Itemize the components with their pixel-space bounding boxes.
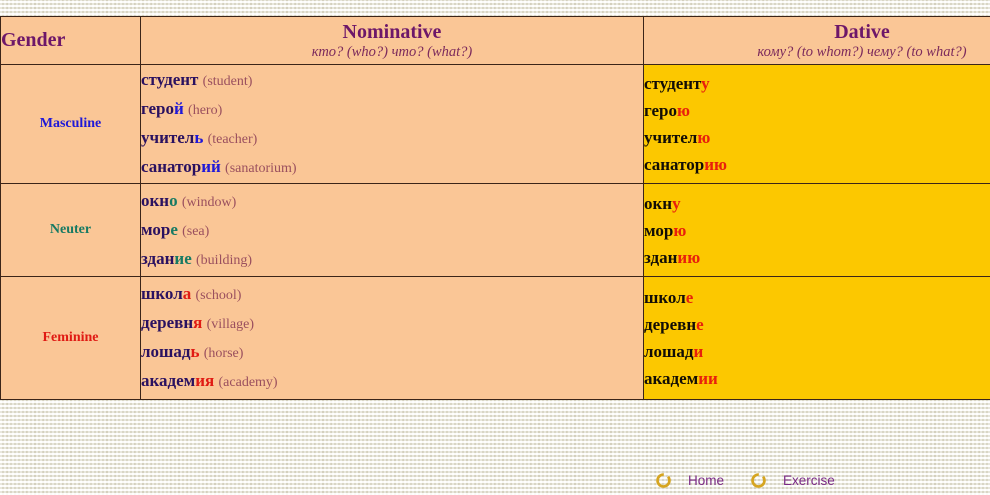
dative-cell-neuter: окну морю зданию bbox=[644, 184, 990, 277]
word-stem: санатор bbox=[644, 155, 704, 174]
header-cell-nominative: Nominative кто? (who?) что? (what?) bbox=[141, 17, 644, 65]
word-ending: у bbox=[672, 194, 681, 213]
word-gloss: (hero) bbox=[188, 103, 222, 118]
word-ending: ий bbox=[201, 157, 221, 176]
list-item: санаторий (sanatorium) bbox=[141, 153, 643, 182]
word-gloss: (academy) bbox=[219, 375, 278, 390]
list-item: школа (school) bbox=[141, 280, 643, 309]
list-item: море (sea) bbox=[141, 216, 643, 245]
list-item: студенту bbox=[644, 70, 990, 97]
gender-label-masculine: Masculine bbox=[40, 116, 101, 131]
nav-link-exercise[interactable]: Exercise bbox=[783, 473, 835, 488]
dative-cell-feminine: школе деревне лошади академии bbox=[644, 277, 990, 400]
gold-ring-icon bbox=[655, 472, 672, 489]
list-item: здание (building) bbox=[141, 245, 643, 274]
list-item: студент (student) bbox=[141, 66, 643, 95]
gender-cell-neuter: Neuter bbox=[1, 184, 141, 277]
list-item: деревне bbox=[644, 311, 990, 338]
list-item: герой (hero) bbox=[141, 95, 643, 124]
header-cell-gender: Gender bbox=[1, 17, 141, 65]
nav-link-home[interactable]: Home bbox=[688, 473, 724, 488]
word-stem: школ bbox=[141, 284, 183, 303]
list-item: окно (window) bbox=[141, 187, 643, 216]
word-ending: ию bbox=[704, 155, 727, 174]
nominative-cell-masculine: студент (student) герой (hero) учитель (… bbox=[141, 65, 644, 184]
word-stem: деревн bbox=[141, 313, 193, 332]
gold-ring-icon bbox=[750, 472, 767, 489]
gender-column-title: Gender bbox=[1, 29, 65, 51]
word-stem: здан bbox=[141, 249, 174, 268]
word-ending: ю bbox=[677, 101, 690, 120]
word-gloss: (sanatorium) bbox=[225, 161, 297, 176]
word-stem: студент bbox=[644, 74, 701, 93]
word-stem: окн bbox=[644, 194, 672, 213]
word-stem: лошад bbox=[644, 342, 694, 361]
word-stem: мор bbox=[644, 221, 673, 240]
word-gloss: (horse) bbox=[204, 346, 244, 361]
word-ending: ия bbox=[195, 371, 214, 390]
word-ending: й bbox=[174, 99, 184, 118]
list-item: учитель (teacher) bbox=[141, 124, 643, 153]
declension-table: Gender Nominative кто? (who?) что? (what… bbox=[0, 16, 990, 400]
header-cell-dative: Dative кому? (to whom?) чему? (to what?) bbox=[644, 17, 990, 65]
word-list-nominative-feminine: школа (school) деревня (village) лошадь … bbox=[141, 280, 643, 396]
word-ending: у bbox=[701, 74, 710, 93]
table-row-neuter: Neuter окно (window) море (sea) здан bbox=[1, 184, 990, 277]
list-item: санаторию bbox=[644, 151, 990, 178]
nominative-cell-feminine: школа (school) деревня (village) лошадь … bbox=[141, 277, 644, 400]
word-ending: ю bbox=[673, 221, 686, 240]
case-questions-nominative: кто? (who?) что? (what?) bbox=[141, 43, 643, 61]
list-item: учителю bbox=[644, 124, 990, 151]
bottom-nav: Home Exercise bbox=[655, 472, 861, 489]
word-ending: ь bbox=[194, 128, 203, 147]
word-ending: ь bbox=[191, 342, 200, 361]
case-title-dative: Dative bbox=[644, 21, 990, 43]
list-item: морю bbox=[644, 217, 990, 244]
table-row-masculine: Masculine студент (student) герой (hero) bbox=[1, 65, 990, 184]
case-questions-dative: кому? (to whom?) чему? (to what?) bbox=[644, 43, 990, 61]
word-stem: студент bbox=[141, 70, 198, 89]
word-stem: мор bbox=[141, 220, 170, 239]
list-item: лошади bbox=[644, 338, 990, 365]
word-stem: учител bbox=[141, 128, 194, 147]
nav-item-home[interactable]: Home bbox=[655, 472, 750, 489]
word-ending: е bbox=[170, 220, 178, 239]
word-stem: лошад bbox=[141, 342, 191, 361]
list-item: герою bbox=[644, 97, 990, 124]
word-list-dative-masculine: студенту герою учителю санаторию bbox=[644, 70, 990, 178]
word-list-nominative-masculine: студент (student) герой (hero) учитель (… bbox=[141, 66, 643, 182]
gender-cell-masculine: Masculine bbox=[1, 65, 141, 184]
word-gloss: (school) bbox=[196, 288, 242, 303]
word-ending: ие bbox=[174, 249, 191, 268]
word-stem: академ bbox=[141, 371, 195, 390]
list-item: академия (academy) bbox=[141, 367, 643, 396]
word-ending: е bbox=[686, 288, 694, 307]
gender-cell-feminine: Feminine bbox=[1, 277, 141, 400]
word-ending: и bbox=[694, 342, 704, 361]
gender-label-feminine: Feminine bbox=[43, 330, 99, 345]
page-root: Gender Nominative кто? (who?) что? (what… bbox=[0, 0, 990, 495]
word-ending: ю bbox=[697, 128, 710, 147]
word-stem: академ bbox=[644, 369, 698, 388]
word-list-dative-neuter: окну морю зданию bbox=[644, 190, 990, 271]
list-item: лошадь (horse) bbox=[141, 338, 643, 367]
list-item: школе bbox=[644, 284, 990, 311]
word-stem: геро bbox=[644, 101, 677, 120]
word-stem: школ bbox=[644, 288, 686, 307]
list-item: деревня (village) bbox=[141, 309, 643, 338]
word-ending: е bbox=[696, 315, 704, 334]
word-stem: геро bbox=[141, 99, 174, 118]
word-stem: деревн bbox=[644, 315, 696, 334]
word-list-dative-feminine: школе деревне лошади академии bbox=[644, 284, 990, 392]
word-ending: ии bbox=[698, 369, 718, 388]
list-item: окну bbox=[644, 190, 990, 217]
word-gloss: (village) bbox=[207, 317, 254, 332]
gender-label-neuter: Neuter bbox=[50, 222, 91, 237]
nominative-cell-neuter: окно (window) море (sea) здание (buildin… bbox=[141, 184, 644, 277]
table-header-row: Gender Nominative кто? (who?) что? (what… bbox=[1, 17, 990, 65]
word-gloss: (window) bbox=[182, 195, 236, 210]
word-ending: а bbox=[183, 284, 192, 303]
word-gloss: (sea) bbox=[182, 224, 209, 239]
dative-cell-masculine: студенту герою учителю санаторию bbox=[644, 65, 990, 184]
table-row-feminine: Feminine школа (school) деревня (village… bbox=[1, 277, 990, 400]
word-stem: окн bbox=[141, 191, 169, 210]
list-item: зданию bbox=[644, 244, 990, 271]
word-stem: санатор bbox=[141, 157, 201, 176]
word-gloss: (teacher) bbox=[208, 132, 258, 147]
word-stem: учител bbox=[644, 128, 697, 147]
list-item: академии bbox=[644, 365, 990, 392]
case-title-nominative: Nominative bbox=[141, 21, 643, 43]
word-ending: я bbox=[193, 313, 202, 332]
word-list-nominative-neuter: окно (window) море (sea) здание (buildin… bbox=[141, 187, 643, 274]
word-stem: здан bbox=[644, 248, 677, 267]
nav-item-exercise[interactable]: Exercise bbox=[750, 472, 861, 489]
word-ending: о bbox=[169, 191, 178, 210]
word-gloss: (building) bbox=[196, 253, 252, 268]
word-gloss: (student) bbox=[203, 74, 253, 89]
word-ending: ию bbox=[677, 248, 700, 267]
